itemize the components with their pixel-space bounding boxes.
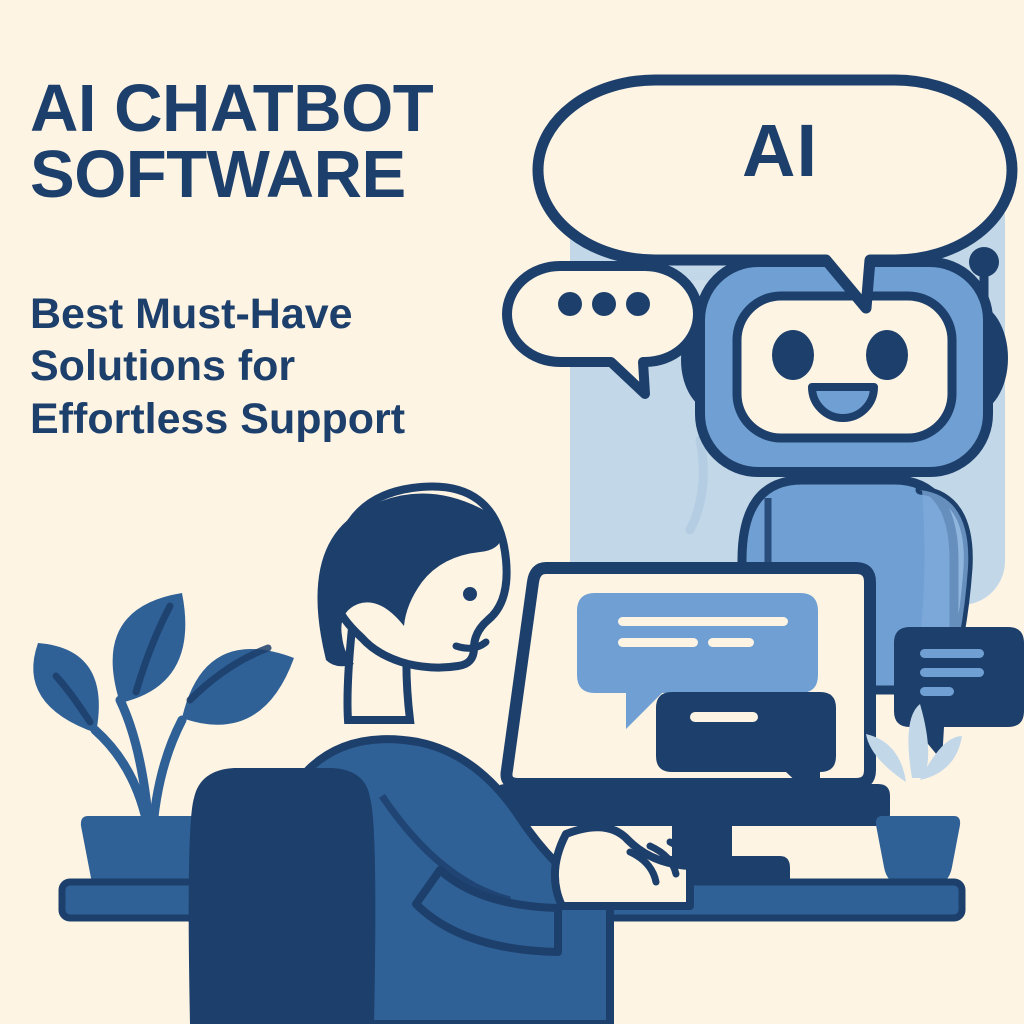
bubble-line	[618, 617, 788, 626]
chair-back	[189, 768, 376, 1024]
bubble-line	[920, 668, 984, 677]
plant-pot	[876, 816, 960, 885]
typing-dot	[626, 292, 650, 316]
poster-canvas: AI CHATBOT SOFTWARE Best Must-Have Solut…	[0, 0, 1024, 1024]
illustration-artboard	[0, 0, 1024, 1024]
monitor-bezel	[494, 784, 890, 826]
robot-eye-right	[866, 330, 908, 380]
typing-dot	[558, 292, 582, 316]
bubble-line	[618, 638, 698, 647]
bubble-line	[920, 649, 984, 658]
office-chair	[189, 768, 376, 1024]
robot-eye-left	[772, 330, 814, 380]
bubble-line	[690, 712, 758, 722]
robot-smile	[812, 387, 874, 418]
bubble-line	[708, 638, 754, 647]
person-eye	[463, 587, 477, 601]
bubble-line	[920, 687, 954, 696]
typing-dot	[592, 292, 616, 316]
